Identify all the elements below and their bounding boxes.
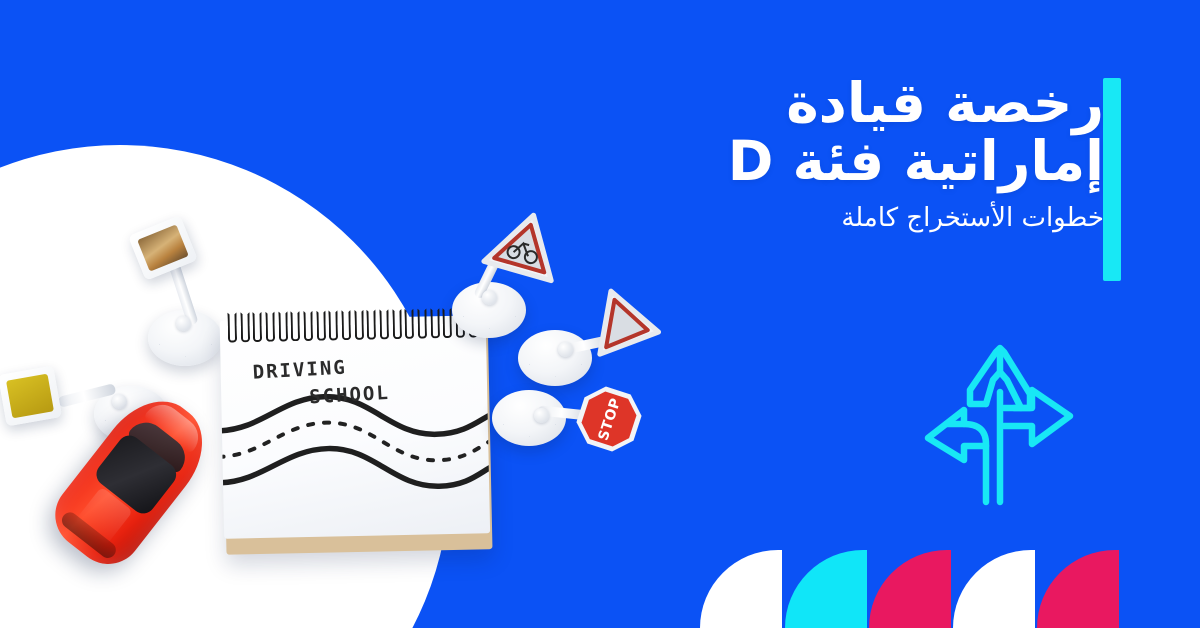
driving-school-photo: DRIVING SCHOOL [0, 0, 680, 628]
title-line-1: رخصة قيادة [786, 71, 1104, 135]
bar-cyan [785, 550, 867, 628]
sign-face [6, 374, 54, 419]
bar-pink-2 [1037, 550, 1119, 628]
sign-knob [482, 290, 497, 305]
sign-knob [112, 394, 127, 409]
road-drawing [221, 389, 489, 515]
sign-knob [534, 408, 549, 423]
title-line-2: إماراتية فئة D [674, 132, 1104, 190]
notebook: DRIVING SCHOOL [220, 315, 491, 549]
bar-pink-1 [869, 550, 951, 628]
notebook-page: DRIVING SCHOOL [220, 315, 491, 539]
notebook-text-line2: SCHOOL [309, 382, 391, 408]
page-subtitle: خطوات الأستخراج كاملة [674, 203, 1104, 234]
bar-white-2 [953, 550, 1035, 628]
sign-face [591, 286, 669, 368]
three-way-direction-arrow-icon [908, 332, 1084, 508]
sign-face: STOP [567, 377, 650, 460]
bottom-decor-bars [0, 538, 1200, 628]
promo-banner: DRIVING SCHOOL [0, 0, 1200, 628]
cyan-accent-bar [1103, 78, 1121, 281]
sign-base [492, 390, 566, 446]
notebook-text-line1: DRIVING [252, 357, 347, 384]
sign-plate [0, 366, 62, 427]
sign-plate [128, 215, 198, 280]
sign-knob [176, 316, 191, 331]
sign-face [137, 224, 189, 271]
notebook-spiral [227, 307, 477, 338]
headline-block: رخصة قيادة إماراتية فئة D خطوات الأستخرا… [674, 74, 1104, 234]
page-title: رخصة قيادة إماراتية فئة D [674, 74, 1104, 191]
sign-base [518, 330, 592, 386]
bar-white-1 [700, 550, 782, 628]
sign-knob [558, 342, 573, 357]
